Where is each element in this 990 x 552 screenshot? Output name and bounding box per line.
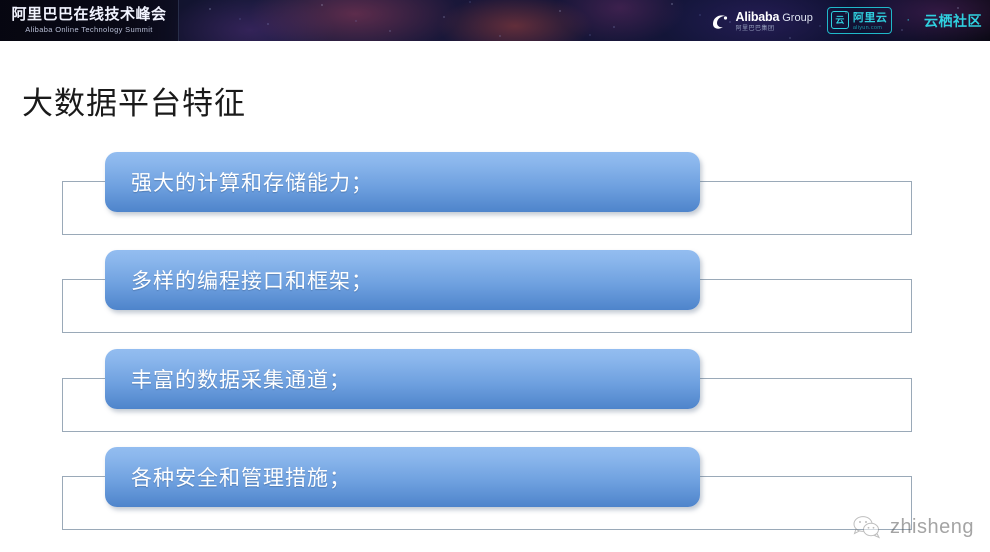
aliyun-logo: 云 阿里云 aliyun.com xyxy=(827,7,893,34)
sponsor-logo-cluster: AlibabaGroup 阿里巴巴集团 云 阿里云 aliyun.com · 云… xyxy=(710,0,983,41)
alibaba-name: Alibaba xyxy=(736,10,780,24)
aliyun-wordmark: 阿里云 aliyun.com xyxy=(853,9,888,31)
feature-pill-4[interactable]: 各种安全和管理措施； xyxy=(105,447,700,507)
page-title: 大数据平台特征 xyxy=(22,78,246,123)
summit-wordmark: 阿里巴巴在线技术峰会 Alibaba Online Technology Sum… xyxy=(0,0,179,41)
alibaba-group-logo: AlibabaGroup 阿里巴巴集团 xyxy=(710,9,813,32)
feature-pill-2[interactable]: 多样的编程接口和框架； xyxy=(105,250,700,310)
watermark-label: zhisheng xyxy=(890,516,974,539)
alibaba-name-cn: 阿里巴巴集团 xyxy=(736,26,813,32)
aliyun-domain: aliyun.com xyxy=(853,26,888,32)
feature-label-2: 多样的编程接口和框架； xyxy=(105,265,373,295)
yunqi-community-label: 云栖社区 xyxy=(924,11,982,31)
aliyun-cloud-icon: 云 xyxy=(831,11,849,29)
wechat-icon xyxy=(852,514,882,540)
summit-title-en: Alibaba Online Technology Summit xyxy=(25,25,152,35)
watermark: zhisheng xyxy=(852,514,974,540)
feature-pill-3[interactable]: 丰富的数据采集通道； xyxy=(105,349,700,409)
feature-label-3: 丰富的数据采集通道； xyxy=(105,364,351,394)
feature-pill-1[interactable]: 强大的计算和存储能力； xyxy=(105,152,700,212)
feature-label-1: 强大的计算和存储能力； xyxy=(105,167,373,197)
logo-separator-dot: · xyxy=(906,15,910,26)
alibaba-group-word: Group xyxy=(782,12,813,24)
alibaba-wordmark: AlibabaGroup 阿里巴巴集团 xyxy=(736,9,813,32)
conference-banner: 阿里巴巴在线技术峰会 Alibaba Online Technology Sum… xyxy=(0,0,990,41)
aliyun-name-cn: 阿里云 xyxy=(853,12,888,24)
alibaba-smile-icon xyxy=(710,12,732,30)
feature-label-4: 各种安全和管理措施； xyxy=(105,462,351,492)
summit-title-cn: 阿里巴巴在线技术峰会 xyxy=(11,7,166,23)
slide-canvas: 阿里巴巴在线技术峰会 Alibaba Online Technology Sum… xyxy=(0,0,990,552)
